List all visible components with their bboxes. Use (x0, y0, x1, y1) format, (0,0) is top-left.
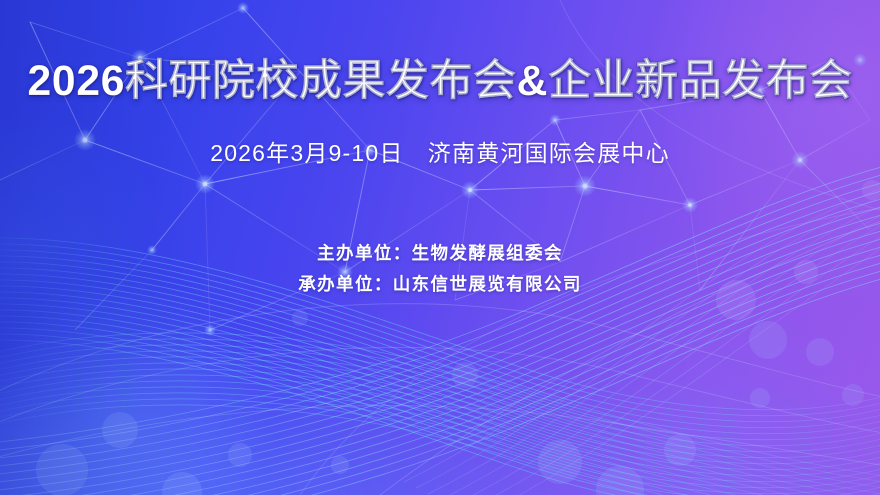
page-title: 2026科研院校成果发布会&企业新品发布会 (0, 60, 880, 103)
event-date-venue: 2026年3月9-10日 济南黄河国际会展中心 (0, 134, 880, 168)
host-organization: 主办单位：生物发酵展组委会 (0, 238, 880, 269)
organizer-block: 主办单位：生物发酵展组委会 承办单位：山东信世展览有限公司 (0, 238, 880, 300)
co-organizer-organization: 承办单位：山东信世展览有限公司 (0, 269, 880, 300)
event-banner: 2026科研院校成果发布会&企业新品发布会 2026年3月9-10日 济南黄河国… (0, 0, 880, 495)
